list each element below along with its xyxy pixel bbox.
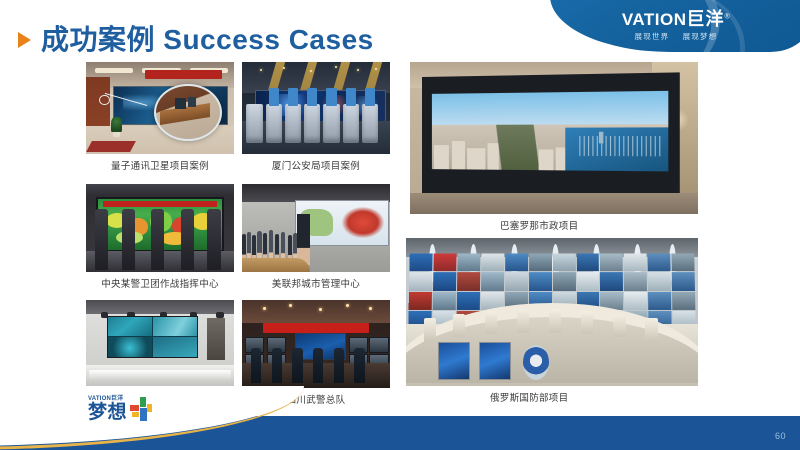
case-image-xiamen-public-security[interactable]: [242, 62, 390, 154]
brand-banner: VATION巨洋® 展现世界 展现梦想: [550, 0, 800, 52]
slide-canvas: VATION巨洋® 展现世界 展现梦想 成功案例 Success Cases 量…: [0, 0, 800, 450]
case-caption-xiamen-public-security: 厦门公安局项目案例: [242, 158, 390, 172]
case-caption-barcelona-municipal: 巴塞罗那市政项目: [500, 218, 680, 232]
scene-red-banner: [263, 323, 370, 333]
brand-tagline-right: 展现梦想: [683, 32, 718, 41]
footer-brand-logo: VATION巨洋 梦想: [88, 396, 152, 422]
case-caption-russia-ministry-of-defense: 俄罗斯国防部项目: [490, 390, 670, 404]
scene-ceiling: [86, 184, 234, 196]
scene-equipment-rack: [207, 318, 225, 360]
scene-ceiling: [242, 300, 390, 323]
scene-red-banner: [145, 70, 222, 78]
scene-panorama: [431, 91, 668, 173]
case-image-taiwan-119-smart-center[interactable]: [86, 300, 234, 388]
case-caption-quantum-satellite: 量子通讯卫星项目案例: [86, 158, 234, 172]
pano-city: [431, 125, 668, 172]
triangle-bullet-icon: [18, 32, 31, 48]
scene-curved-table: [242, 258, 310, 272]
page-title: 成功案例 Success Cases: [18, 18, 374, 58]
case-image-sichuan-armed-police[interactable]: [242, 300, 390, 388]
brand-name-cn: 巨洋: [687, 9, 725, 29]
scene-emblem-icon: [523, 345, 549, 381]
scene-video-wall: [107, 316, 199, 358]
page-number: 60: [775, 431, 786, 441]
scene-callout-circle: [99, 95, 109, 105]
scene-carpet: [86, 141, 136, 152]
case-image-us-federal-city-management[interactable]: [242, 184, 390, 272]
scene-red-banner: [103, 201, 216, 208]
scene-desk-row: [89, 370, 231, 381]
brand-logo-text: VATION巨洋®: [550, 10, 800, 28]
case-image-quantum-satellite[interactable]: [86, 62, 234, 154]
case-caption-central-guard-regiment: 中央某警卫团作战指挥中心: [82, 276, 238, 290]
brand-logo: VATION巨洋® 展现世界 展现梦想: [550, 10, 800, 42]
slide-footer: VATION巨洋 梦想 60: [0, 416, 800, 450]
page-title-text: 成功案例 Success Cases: [41, 18, 374, 58]
brand-tagline: 展现世界 展现梦想: [550, 31, 800, 42]
scene-zoom-inset: [154, 84, 222, 141]
footer-brand-word: 梦想: [88, 403, 127, 422]
brand-name-en: VATION: [622, 10, 687, 29]
brand-tagline-left: 展现世界: [635, 32, 670, 41]
scene-floor: [410, 193, 698, 214]
brand-trademark-icon: ®: [725, 13, 731, 20]
pano-sky: [431, 91, 668, 126]
pinwheel-icon: [130, 397, 152, 421]
case-caption-us-federal-city-management: 美联邦城市管理中心: [242, 276, 390, 290]
case-image-central-guard-regiment[interactable]: [86, 184, 234, 272]
case-image-russia-ministry-of-defense[interactable]: [406, 238, 698, 386]
case-image-barcelona-municipal[interactable]: [410, 62, 698, 214]
scene-led-wall-frame: [422, 73, 680, 201]
